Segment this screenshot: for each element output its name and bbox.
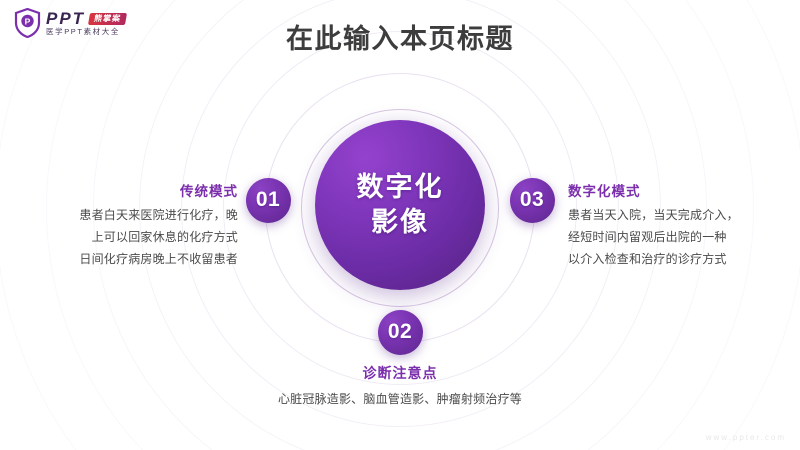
right-body-line: 以介入检查和治疗的诊疗方式	[568, 251, 780, 268]
center-circle-line-1: 数字化	[357, 170, 444, 205]
number-badge-03[interactable]: 03	[510, 178, 555, 223]
bottom-heading: 诊断注意点	[200, 363, 600, 383]
right-body: 患者当天入院，当天完成介入， 经短时间内留观后出院的一种 以介入检查和治疗的诊疗…	[568, 207, 780, 268]
left-body-line: 日间化疗病房晚上不收留患者	[30, 251, 238, 268]
watermark: www.ppter.com	[706, 433, 786, 442]
left-body-line: 上可以回家休息的化疗方式	[30, 229, 238, 246]
left-body: 患者白天来医院进行化疗，晚 上可以回家休息的化疗方式 日间化疗病房晚上不收留患者	[30, 207, 238, 268]
right-body-line: 经短时间内留观后出院的一种	[568, 229, 780, 246]
slide-canvas: P PPT 熊掌案 医学PPT素材大全 在此输入本页标题 数字化 影像 01 0…	[0, 0, 800, 450]
left-body-line: 患者白天来医院进行化疗，晚	[30, 207, 238, 224]
center-circle-line-2: 影像	[371, 205, 429, 240]
text-block-left: 传统模式 患者白天来医院进行化疗，晚 上可以回家休息的化疗方式 日间化疗病房晚上…	[30, 180, 238, 268]
page-title: 在此输入本页标题	[0, 17, 800, 56]
right-body-line: 患者当天入院，当天完成介入，	[568, 207, 780, 224]
left-heading: 传统模式	[30, 180, 238, 200]
center-circle: 数字化 影像	[315, 120, 485, 290]
number-badge-02[interactable]: 02	[378, 310, 423, 355]
text-block-bottom: 诊断注意点 心脏冠脉造影、脑血管造影、肿瘤射频治疗等	[200, 363, 600, 408]
bottom-body-line: 心脏冠脉造影、脑血管造影、肿瘤射频治疗等	[200, 391, 600, 408]
bottom-body: 心脏冠脉造影、脑血管造影、肿瘤射频治疗等	[200, 391, 600, 408]
number-badge-01[interactable]: 01	[246, 178, 291, 223]
right-heading: 数字化模式	[568, 180, 780, 200]
text-block-right: 数字化模式 患者当天入院，当天完成介入， 经短时间内留观后出院的一种 以介入检查…	[568, 180, 780, 268]
